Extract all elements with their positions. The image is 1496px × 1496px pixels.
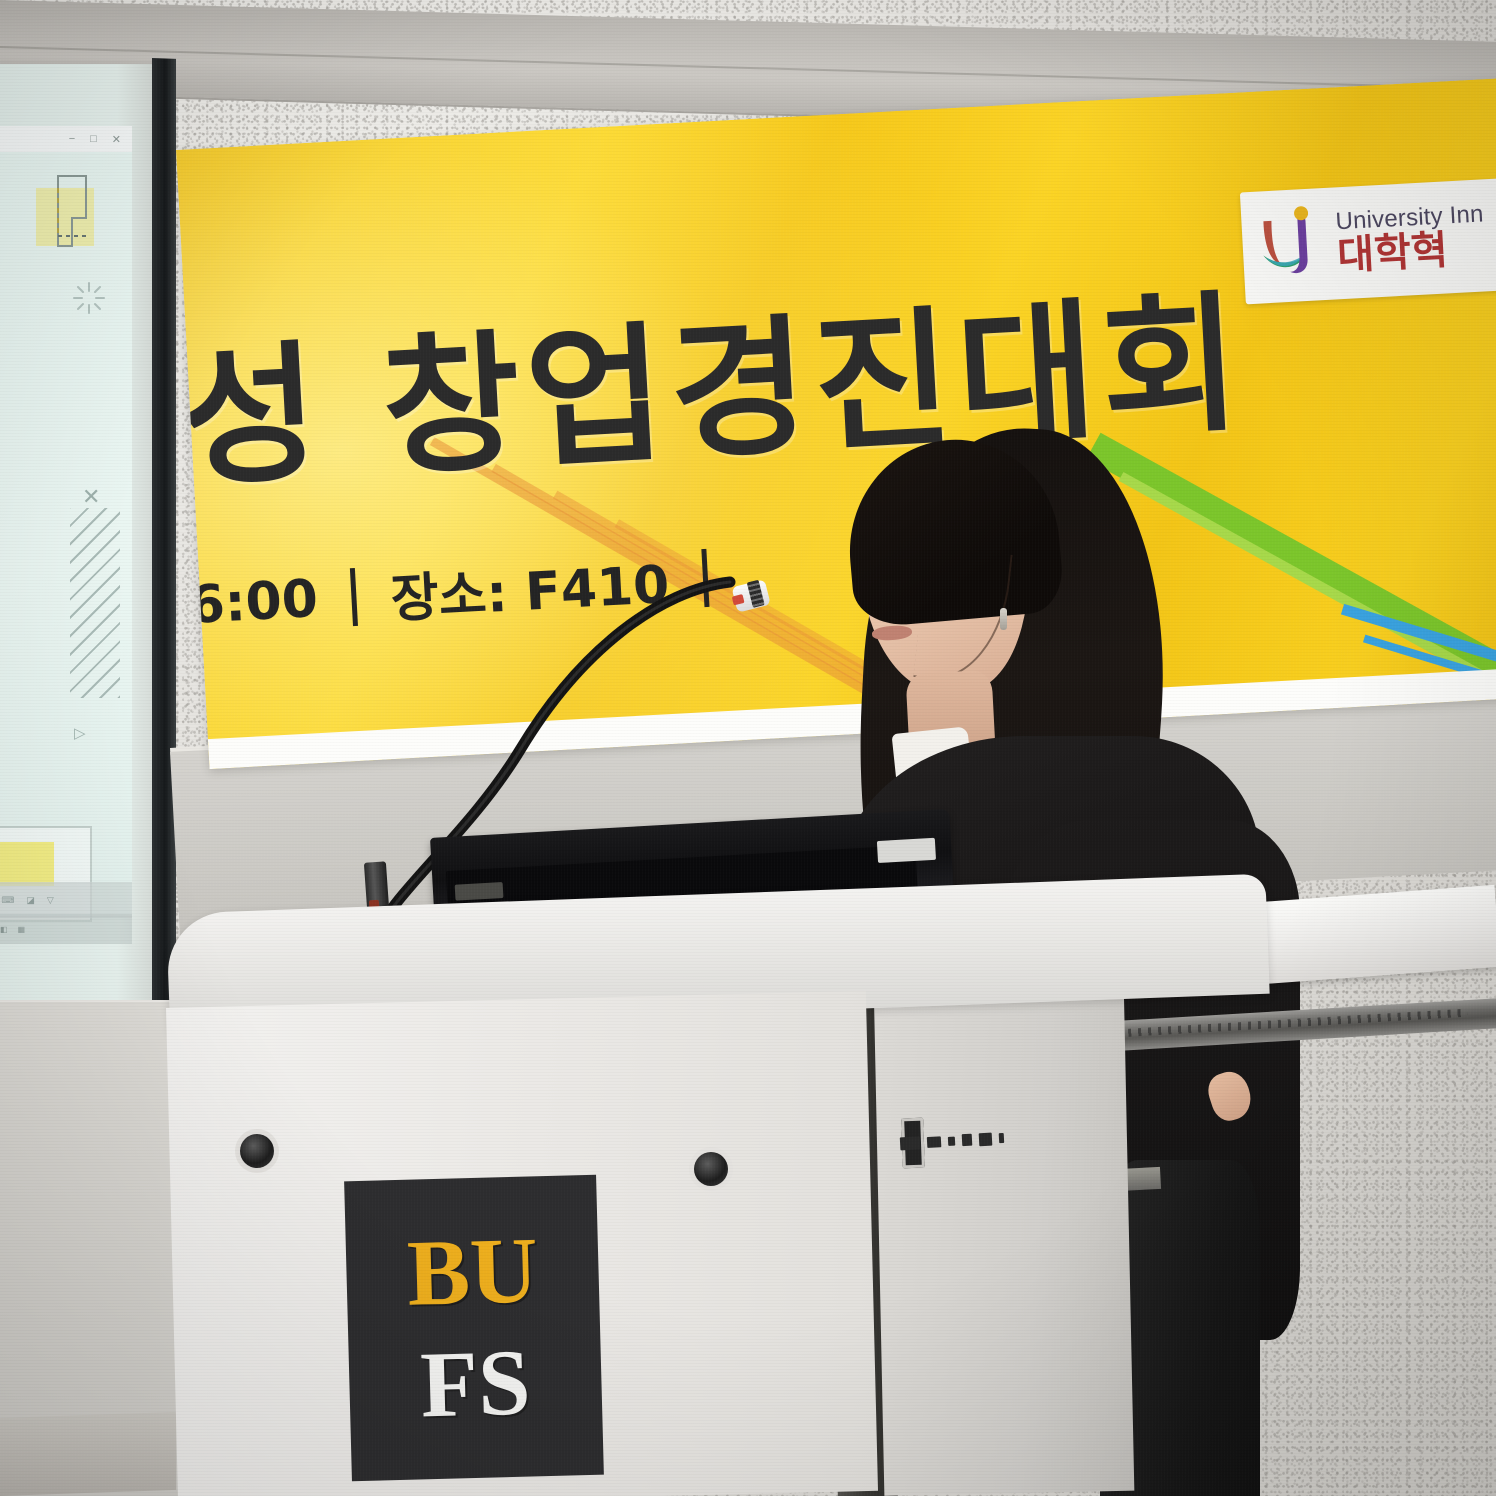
sparkle-icon bbox=[72, 281, 106, 315]
baseboard bbox=[0, 1412, 176, 1496]
podium-bufs-bottom-row: FS bbox=[419, 1336, 531, 1433]
podium-lock-knob-left[interactable] bbox=[240, 1134, 274, 1168]
slide-play-icon: ▷ bbox=[74, 724, 86, 742]
podium-bufs-f: FS bbox=[419, 1336, 531, 1433]
podium-bufs-top-row: BU bbox=[406, 1223, 539, 1320]
partner-logo: University Inn 대학혁 bbox=[1240, 176, 1496, 304]
podium-bufs-b: BU bbox=[406, 1223, 539, 1320]
close-icon[interactable]: ✕ bbox=[112, 133, 122, 146]
slide-lshape-graphic bbox=[42, 174, 104, 250]
screen-frame-dark-edge bbox=[152, 58, 176, 1019]
partner-logo-text: University Inn 대학혁 bbox=[1335, 202, 1487, 277]
banner-time: 6:00 bbox=[187, 569, 319, 636]
projection-screen: − □ ✕ 출 전략 구 bbox=[0, 64, 170, 1012]
projected-slide: − □ ✕ 출 전략 구 bbox=[0, 126, 132, 916]
slide-taskbar: ▣▤◉▥⌨◪▽ bbox=[0, 882, 132, 918]
slide-x-mark-icon: ✕ bbox=[82, 484, 100, 510]
lshape-outline-icon bbox=[42, 174, 104, 250]
podium-lock-knob-right[interactable] bbox=[694, 1152, 728, 1186]
podium-side-panel bbox=[874, 995, 1134, 1496]
earring bbox=[1000, 608, 1007, 630]
maximize-icon[interactable]: □ bbox=[90, 133, 98, 145]
slide-system-tray: ⌂∧◇▨⬓◧▦ bbox=[0, 914, 132, 944]
slide-window-controls: − □ ✕ bbox=[0, 126, 132, 152]
minimize-icon[interactable]: − bbox=[69, 133, 76, 145]
slide-hatch-graphic bbox=[70, 508, 120, 698]
monitor-connector-tab bbox=[455, 882, 504, 901]
monitor-label-sticker bbox=[877, 838, 936, 863]
partner-logo-korean: 대학혁 bbox=[1336, 227, 1486, 277]
university-innovation-mark-icon bbox=[1253, 204, 1329, 288]
slide-highlight-block bbox=[0, 842, 54, 886]
screenshot-root: − □ ✕ 출 전략 구 bbox=[0, 0, 1496, 1496]
podium-bufs-plate: BU FS bbox=[344, 1175, 604, 1481]
